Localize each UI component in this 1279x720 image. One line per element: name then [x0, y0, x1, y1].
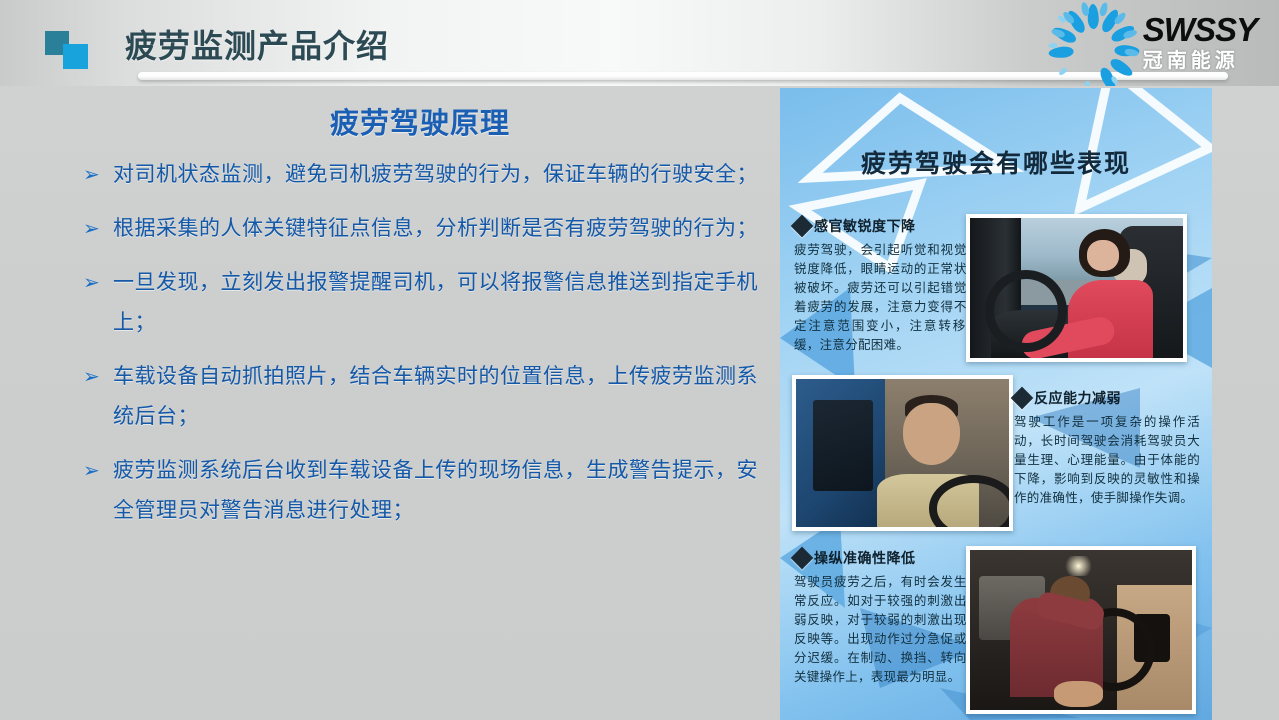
photo-3-content — [970, 550, 1192, 710]
logo-petal-icon — [1048, 43, 1057, 48]
company-logo: SWSSY 冠南能源 — [1057, 6, 1257, 78]
list-item-text: 根据采集的人体关键特征点信息，分析判断是否有疲劳驾驶的行为； — [113, 209, 770, 249]
section-1-title: 感官敏锐度下降 — [814, 216, 916, 236]
photo-tired-truck-driver — [792, 375, 1013, 531]
section-1-heading: 感官敏锐度下降 — [794, 216, 980, 236]
list-item: ➢ 疲劳监测系统后台收到车载设备上传的现场信息，生成警告提示，安全管理员对警告消… — [80, 451, 770, 531]
slide-header: 疲劳监测产品介绍 SWSSY 冠南能源 — [0, 0, 1279, 86]
list-item-text: 对司机状态监测，避免司机疲劳驾驶的行为，保证车辆的行驶安全； — [113, 155, 770, 195]
logo-petal-icon — [1080, 1, 1090, 16]
section-3-heading: 操纵准确性降低 — [794, 548, 980, 568]
list-item: ➢ 对司机状态监测，避免司机疲劳驾驶的行为，保证车辆的行驶安全； — [80, 155, 770, 195]
list-item-text: 疲劳监测系统后台收到车载设备上传的现场信息，生成警告提示，安全管理员对警告消息进… — [113, 451, 770, 531]
photo-2-content — [796, 379, 1009, 527]
page-title: 疲劳监测产品介绍 — [125, 21, 389, 67]
logo-petal-icon — [1084, 80, 1090, 86]
arrow-bullet-icon: ➢ — [80, 155, 113, 195]
list-item: ➢ 一旦发现，立刻发出报警提醒司机，可以将报警信息推送到指定手机上； — [80, 263, 770, 343]
bullet-list: ➢ 对司机状态监测，避免司机疲劳驾驶的行为，保证车辆的行驶安全； ➢ 根据采集的… — [80, 155, 770, 545]
infographic-panel: 疲劳驾驶会有哪些表现 感官敏锐度下降 疲劳驾驶，会引起听觉和视觉敏锐度降低，眼睛… — [780, 88, 1212, 720]
photo-tired-woman-driver — [966, 214, 1187, 362]
diamond-bullet-icon — [791, 547, 814, 570]
photo-driver-slumped-on-wheel — [966, 546, 1196, 714]
arrow-bullet-icon: ➢ — [80, 209, 113, 249]
arrow-bullet-icon: ➢ — [80, 357, 113, 397]
diamond-bullet-icon — [1011, 387, 1034, 410]
brand-name-cn: 冠南能源 — [1143, 51, 1239, 71]
list-item: ➢ 车载设备自动抓拍照片，结合车辆实时的位置信息，上传疲劳监测系统后台； — [80, 357, 770, 437]
section-2-title: 反应能力减弱 — [1034, 388, 1121, 408]
section-1-text: 感官敏锐度下降 疲劳驾驶，会引起听觉和视觉敏锐度降低，眼睛运动的正常状态被破坏。… — [794, 216, 980, 355]
arrow-bullet-icon: ➢ — [80, 263, 113, 303]
content-title: 疲劳驾驶原理 — [120, 100, 720, 142]
arrow-bullet-icon: ➢ — [80, 451, 113, 491]
logo-petal-mark-icon — [1057, 7, 1131, 77]
section-3-body: 驾驶员疲劳之后，有时会发生异常反应。如对于较强的刺激出现弱反映，对于较弱的刺激出… — [794, 573, 980, 687]
list-item: ➢ 根据采集的人体关键特征点信息，分析判断是否有疲劳驾驶的行为； — [80, 209, 770, 249]
section-2-heading: 反应能力减弱 — [1014, 388, 1200, 408]
slide: 疲劳监测产品介绍 SWSSY 冠南能源 疲劳驾驶原理 ➢ 对司机状态监测，避免司… — [0, 0, 1279, 720]
logo-text-group: SWSSY 冠南能源 — [1143, 13, 1257, 71]
decor-square-light-icon — [63, 44, 88, 69]
diamond-bullet-icon — [791, 215, 814, 238]
section-2-text: 反应能力减弱 驾驶工作是一项复杂的操作活动，长时间驾驶会消耗驾驶员大量生理、心理… — [1014, 388, 1200, 508]
photo-1-content — [970, 218, 1183, 358]
list-item-text: 车载设备自动抓拍照片，结合车辆实时的位置信息，上传疲劳监测系统后台； — [113, 357, 770, 437]
list-item-text: 一旦发现，立刻发出报警提醒司机，可以将报警信息推送到指定手机上； — [113, 263, 770, 343]
logo-petal-icon — [1058, 67, 1068, 77]
section-3-text: 操纵准确性降低 驾驶员疲劳之后，有时会发生异常反应。如对于较强的刺激出现弱反映，… — [794, 548, 980, 687]
section-1-body: 疲劳驾驶，会引起听觉和视觉敏锐度降低，眼睛运动的正常状态被破坏。疲劳还可以引起错… — [794, 241, 980, 355]
section-2-body: 驾驶工作是一项复杂的操作活动，长时间驾驶会消耗驾驶员大量生理、心理能量。由于体能… — [1014, 413, 1200, 508]
infographic-title: 疲劳驾驶会有哪些表现 — [780, 144, 1212, 180]
brand-name: SWSSY — [1143, 13, 1257, 46]
logo-petal-icon — [1087, 4, 1099, 29]
section-3-title: 操纵准确性降低 — [814, 548, 916, 568]
